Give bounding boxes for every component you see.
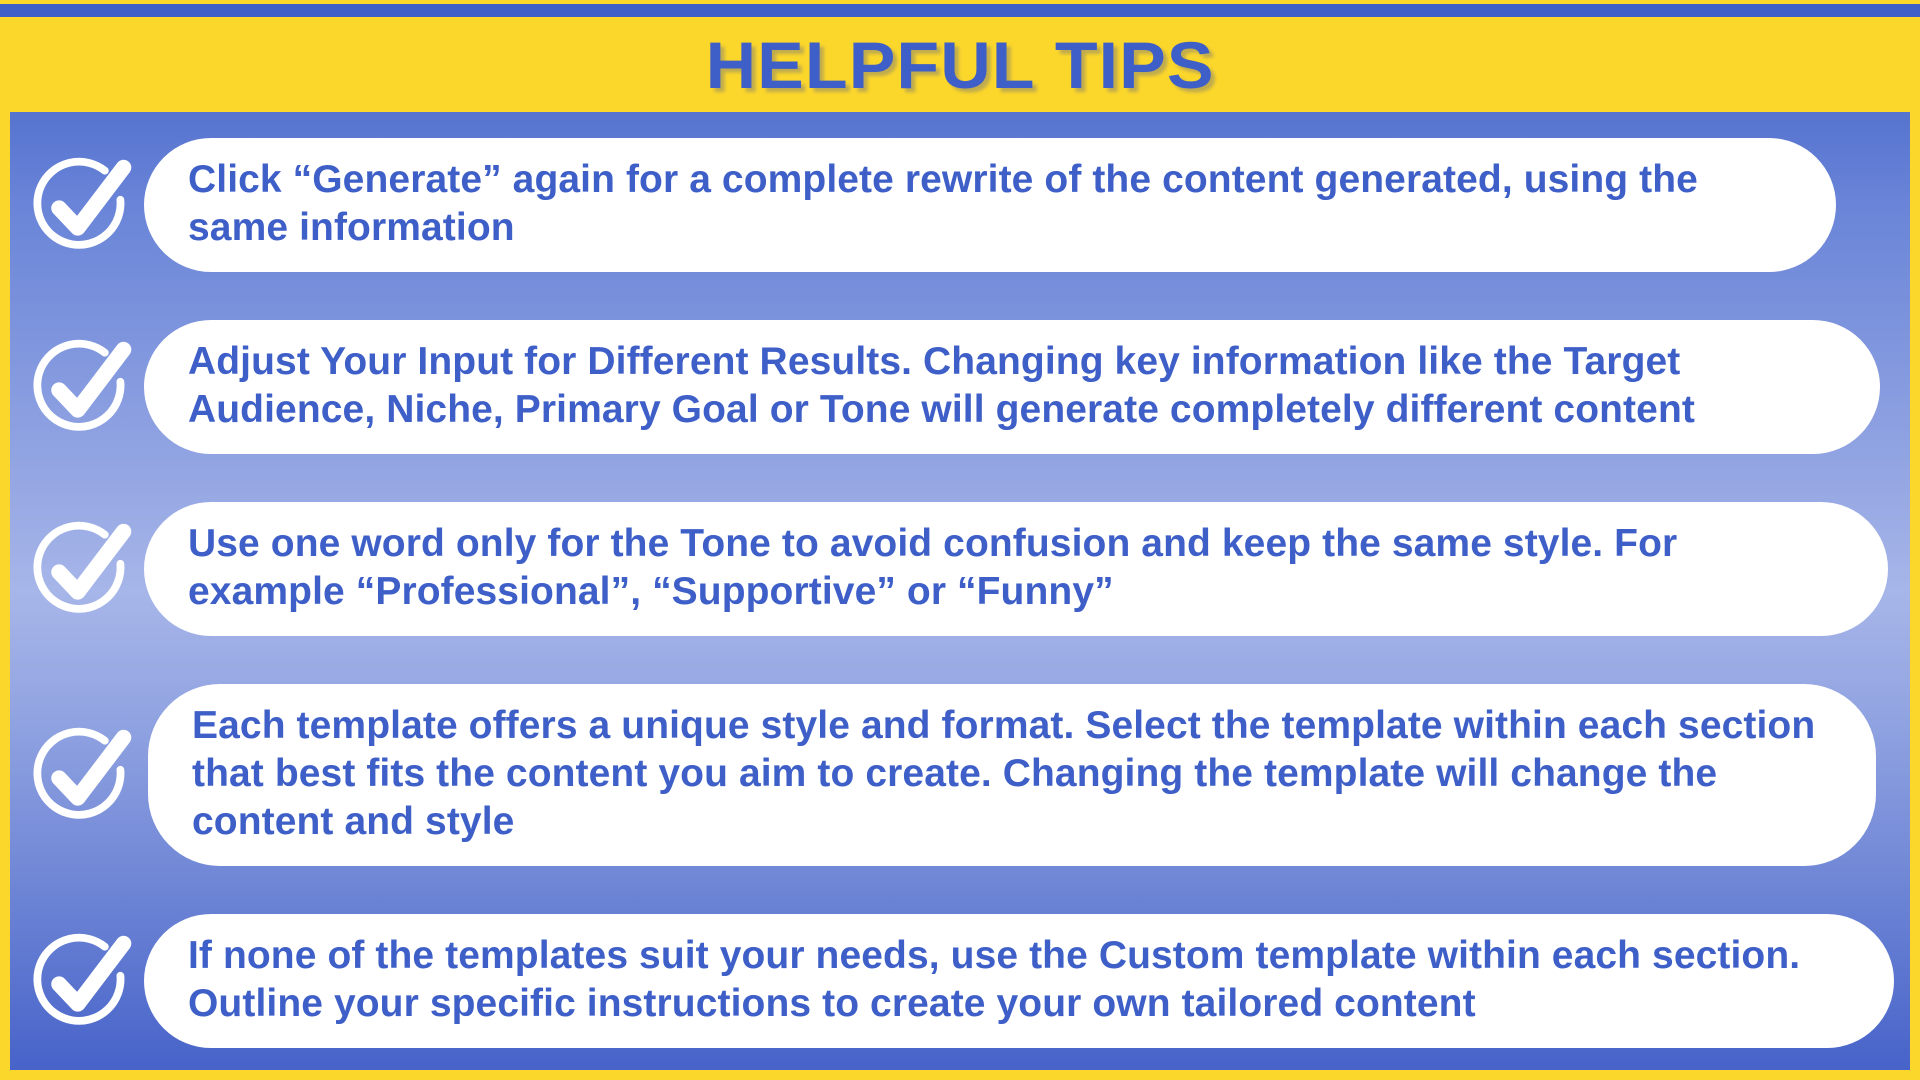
list-item: Use one word only for the Tone to avoid …	[10, 502, 1910, 636]
tip-card: Use one word only for the Tone to avoid …	[144, 502, 1888, 636]
page-title: HELPFUL TIPS	[706, 32, 1215, 98]
tip-text: Each template offers a unique style and …	[192, 702, 1832, 846]
list-item: Adjust Your Input for Different Results.…	[10, 320, 1910, 454]
tip-text: If none of the templates suit your needs…	[188, 932, 1850, 1028]
tip-card: Each template offers a unique style and …	[148, 684, 1876, 866]
list-item: If none of the templates suit your needs…	[10, 914, 1910, 1048]
tips-panel: Click “Generate” again for a complete re…	[10, 112, 1910, 1070]
tip-card: If none of the templates suit your needs…	[144, 914, 1894, 1048]
tip-text: Adjust Your Input for Different Results.…	[188, 338, 1836, 434]
tip-text: Click “Generate” again for a complete re…	[188, 156, 1792, 252]
tip-text: Use one word only for the Tone to avoid …	[188, 520, 1844, 616]
header-banner: HELPFUL TIPS	[0, 17, 1920, 112]
tip-card: Click “Generate” again for a complete re…	[144, 138, 1836, 272]
circled-check-icon	[32, 153, 136, 257]
circled-check-icon	[32, 517, 136, 621]
list-item: Click “Generate” again for a complete re…	[10, 138, 1910, 272]
circled-check-icon	[32, 335, 136, 439]
list-item: Each template offers a unique style and …	[10, 684, 1910, 866]
circled-check-icon	[32, 723, 136, 827]
top-accent-rule	[0, 4, 1920, 17]
tip-card: Adjust Your Input for Different Results.…	[144, 320, 1880, 454]
helpful-tips-slide: HELPFUL TIPS Click “Generate” again for …	[0, 0, 1920, 1080]
circled-check-icon	[32, 929, 136, 1033]
